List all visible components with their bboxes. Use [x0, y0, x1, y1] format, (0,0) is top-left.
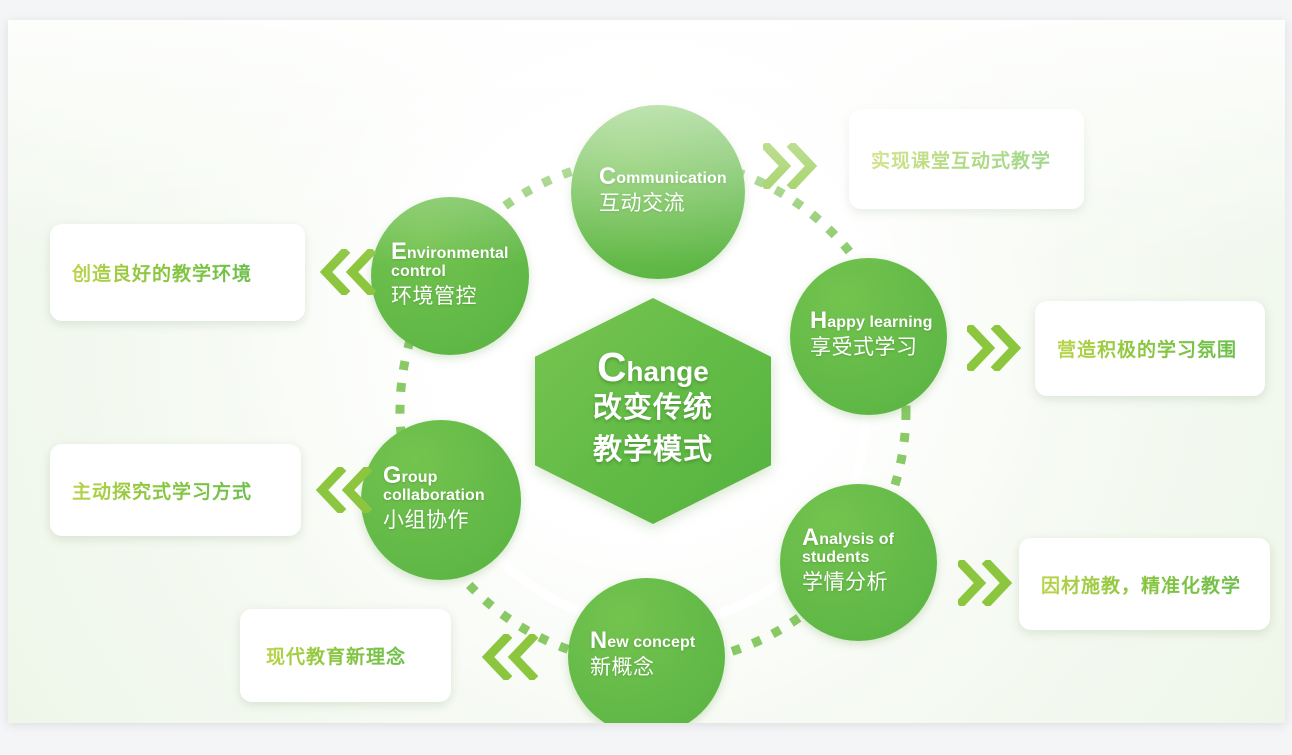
callout-good-teaching-environment[interactable]: 创造良好的教学环境	[50, 224, 305, 321]
node-environmental-control-english-rest: nvironmental control	[391, 245, 509, 280]
center-hexagon: Change 改变传统 教学模式	[535, 298, 771, 524]
node-happy-learning[interactable]: Happy learning 享受式学习	[790, 258, 947, 415]
node-new-concept-initial: N	[590, 628, 607, 654]
node-communication-chinese: 互动交流	[599, 191, 731, 217]
callout-good-teaching-environment-text: 创造良好的教学环境	[72, 259, 252, 286]
node-communication-initial: C	[599, 164, 616, 190]
hexagon-english-rest: hange	[626, 356, 708, 387]
hexagon-text: Change 改变传统 教学模式	[593, 351, 713, 470]
node-group-collaboration-english: Group collaboration	[383, 467, 511, 505]
callout-modern-education-concept[interactable]: 现代教育新理念	[240, 609, 451, 702]
node-analysis-of-students-chinese: 学情分析	[802, 570, 921, 596]
double-chevron-left-icon	[314, 467, 372, 513]
node-environmental-control-initial: E	[391, 239, 407, 265]
node-analysis-of-students-initial: A	[802, 525, 819, 551]
callout-positive-atmosphere[interactable]: 营造积极的学习氛围	[1035, 301, 1265, 396]
callout-active-inquiry-learning[interactable]: 主动探究式学习方式	[50, 444, 301, 536]
double-chevron-right-icon	[967, 325, 1025, 371]
node-new-concept-english: New concept	[590, 632, 713, 652]
node-happy-learning-english: Happy learning	[810, 312, 935, 332]
node-group-collaboration-chinese: 小组协作	[383, 508, 511, 534]
hexagon-initial: C	[597, 344, 626, 390]
double-chevron-right-icon	[763, 143, 821, 189]
node-new-concept[interactable]: New concept 新概念	[568, 578, 725, 723]
node-group-collaboration[interactable]: Group collaboration 小组协作	[361, 420, 521, 580]
node-communication-english: Communication	[599, 168, 731, 188]
callout-interactive-teaching[interactable]: 实现课堂互动式教学	[849, 109, 1084, 209]
diagram-card: Change 改变传统 教学模式 Communication 互动交流 Happ…	[8, 20, 1285, 723]
node-new-concept-chinese: 新概念	[590, 655, 713, 681]
double-chevron-left-icon	[480, 634, 538, 680]
callout-interactive-teaching-text: 实现课堂互动式教学	[871, 146, 1051, 173]
node-group-collaboration-initial: G	[383, 463, 402, 489]
double-chevron-left-icon	[318, 249, 376, 295]
hexagon-chinese-line2: 教学模式	[593, 432, 713, 469]
node-happy-learning-initial: H	[810, 308, 827, 334]
node-happy-learning-chinese: 享受式学习	[810, 335, 935, 361]
node-environmental-control-chinese: 环境管控	[391, 284, 521, 310]
node-environmental-control-english: Environmental control	[391, 243, 521, 281]
arrow-precision-teaching	[958, 560, 1016, 606]
arrow-good-teaching-environment	[318, 249, 376, 295]
callout-modern-education-concept-text: 现代教育新理念	[266, 642, 406, 669]
hexagon-english: Change	[593, 351, 713, 386]
node-analysis-of-students[interactable]: Analysis of students 学情分析	[780, 484, 937, 641]
node-communication[interactable]: Communication 互动交流	[571, 105, 745, 279]
arrow-active-inquiry-learning	[314, 467, 372, 513]
callout-positive-atmosphere-text: 营造积极的学习氛围	[1057, 335, 1237, 362]
callout-precision-teaching[interactable]: 因材施教，精准化教学	[1019, 538, 1270, 630]
node-new-concept-english-rest: ew concept	[607, 634, 695, 651]
arrow-interactive-teaching	[763, 143, 821, 189]
callout-active-inquiry-learning-text: 主动探究式学习方式	[72, 477, 252, 504]
node-happy-learning-english-rest: appy learning	[827, 314, 932, 331]
hexagon-chinese-line1: 改变传统	[593, 390, 713, 427]
node-analysis-of-students-english: Analysis of students	[802, 529, 921, 567]
double-chevron-right-icon	[958, 560, 1016, 606]
arrow-modern-education-concept	[480, 634, 538, 680]
node-communication-english-rest: ommunication	[616, 170, 727, 187]
arrow-positive-atmosphere	[967, 325, 1025, 371]
node-environmental-control[interactable]: Environmental control 环境管控	[371, 197, 529, 355]
callout-precision-teaching-text: 因材施教，精准化教学	[1041, 571, 1241, 598]
diagram-stage: Change 改变传统 教学模式 Communication 互动交流 Happ…	[0, 0, 1292, 755]
